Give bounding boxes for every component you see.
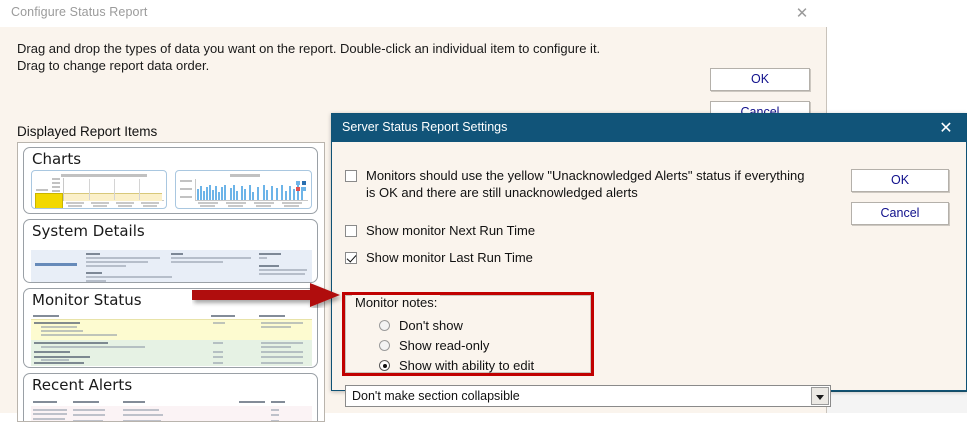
checkbox-label: Show monitor Next Run Time <box>366 223 535 240</box>
charts-thumbnail <box>31 170 312 210</box>
radio-row-show-with-ability-to-edit[interactable]: Show with ability to edit <box>379 358 534 373</box>
monitor-notes-group: Monitor notes: Don't show Show read-only… <box>345 295 591 373</box>
checkbox-row-next-run-time[interactable]: Show monitor Next Run Time <box>345 223 745 240</box>
instructions-line-1: Drag and drop the types of data you want… <box>17 41 677 58</box>
select-value: Don't make section collapsible <box>352 389 520 403</box>
server-status-report-settings-dialog: Server Status Report Settings ✕ Monitors… <box>331 113 967 391</box>
thumb-chart-left <box>31 170 167 209</box>
thumb-chart-right <box>175 170 312 209</box>
close-icon[interactable]: ✕ <box>793 4 811 22</box>
bg-cell-4 <box>826 392 967 413</box>
show-with-ability-to-edit-radio[interactable] <box>379 360 390 371</box>
list-item-title: Charts <box>32 150 81 168</box>
section-collapsible-select[interactable]: Don't make section collapsible <box>345 385 831 407</box>
show-read-only-radio[interactable] <box>379 340 390 351</box>
dialog-title: Configure Status Report <box>11 5 147 19</box>
dialog-titlebar: Server Status Report Settings ✕ <box>332 114 966 142</box>
instructions-text: Drag and drop the types of data you want… <box>17 41 677 74</box>
list-item-title: Monitor Status <box>32 291 142 309</box>
cancel-button[interactable]: Cancel <box>851 202 949 225</box>
checkbox-label: Show monitor Last Run Time <box>366 250 533 267</box>
instructions-line-2: Drag to change report data order. <box>17 58 677 75</box>
close-icon[interactable]: ✕ <box>936 118 956 138</box>
unacknowledged-alerts-checkbox[interactable] <box>345 170 357 182</box>
list-item-title: System Details <box>32 222 145 240</box>
recent-alerts-thumbnail <box>31 400 312 422</box>
list-item-title: Recent Alerts <box>32 376 132 394</box>
list-item[interactable]: System Details <box>23 219 318 283</box>
dont-show-radio[interactable] <box>379 320 390 331</box>
system-details-thumbnail <box>31 244 312 282</box>
radio-label: Don't show <box>399 318 463 333</box>
radio-row-show-read-only[interactable]: Show read-only <box>379 338 489 353</box>
checkbox-label: Monitors should use the yellow "Unacknow… <box>366 168 815 201</box>
ok-button[interactable]: OK <box>851 169 949 192</box>
last-run-time-checkbox[interactable] <box>345 252 357 264</box>
displayed-report-items-label: Displayed Report Items <box>17 124 157 139</box>
monitor-status-thumbnail <box>31 314 312 366</box>
next-run-time-checkbox[interactable] <box>345 225 357 237</box>
radio-label: Show with ability to edit <box>399 358 534 373</box>
radio-label: Show read-only <box>399 338 489 353</box>
list-item[interactable]: Charts <box>23 147 318 214</box>
red-callout-arrow <box>192 282 342 308</box>
checkbox-row-unacknowledged-alerts[interactable]: Monitors should use the yellow "Unacknow… <box>345 168 815 201</box>
list-item[interactable]: Recent Alerts <box>23 373 318 422</box>
chevron-down-icon[interactable] <box>811 387 829 405</box>
radio-row-dont-show[interactable]: Don't show <box>379 318 463 333</box>
checkbox-row-last-run-time[interactable]: Show monitor Last Run Time <box>345 250 745 267</box>
dialog-titlebar: Configure Status Report ✕ <box>0 0 827 27</box>
dialog-title: Server Status Report Settings <box>342 120 507 134</box>
ok-button[interactable]: OK <box>710 68 810 91</box>
monitor-notes-legend: Monitor notes: <box>352 295 440 310</box>
dialog-body: Monitors should use the yellow "Unacknow… <box>332 142 966 390</box>
